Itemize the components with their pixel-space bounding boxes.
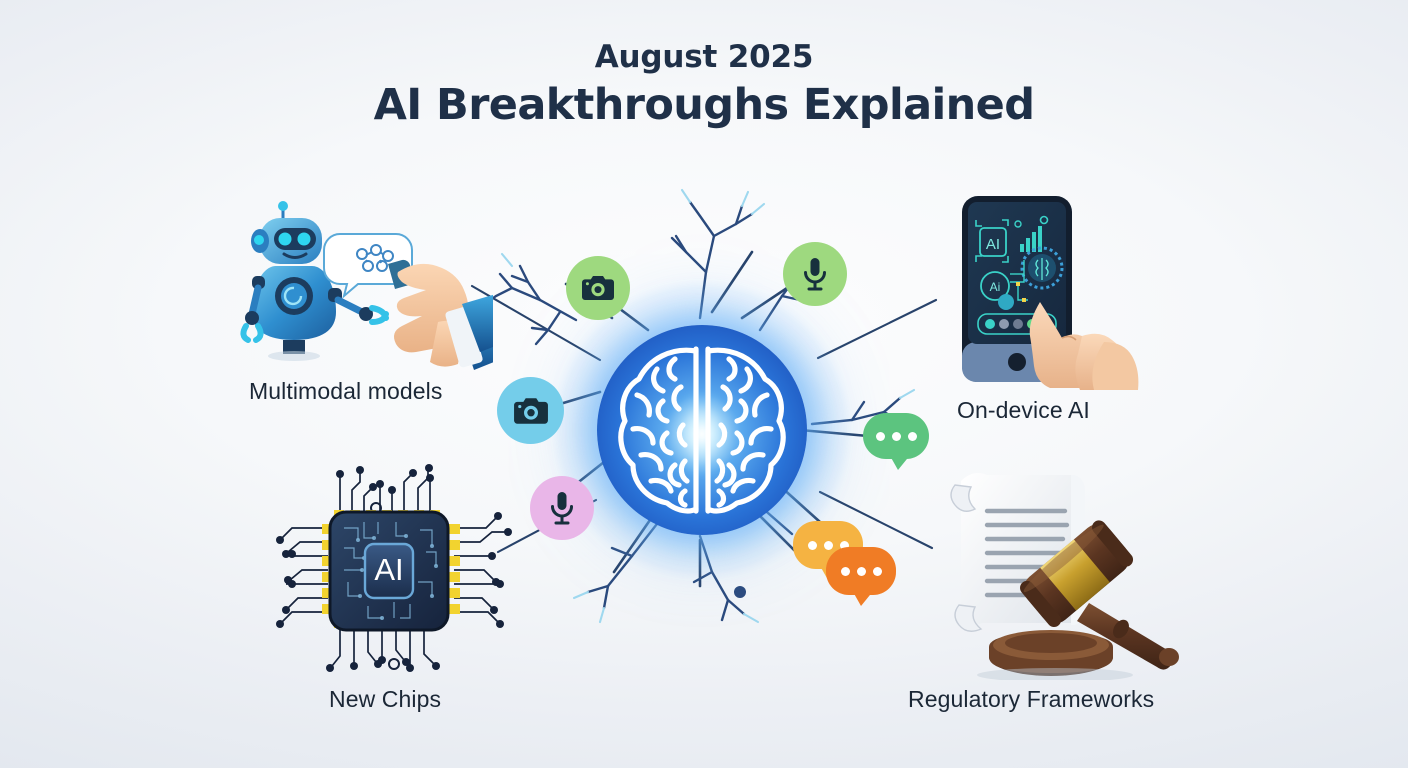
microphone-bubble-pink — [530, 476, 594, 540]
microphone-icon — [801, 256, 829, 292]
chat-dot — [876, 432, 885, 441]
svg-text:Ai: Ai — [990, 280, 1001, 294]
chat-dot — [824, 541, 833, 550]
phone-ai-label: AI — [986, 236, 1000, 253]
chat-bubble-orange — [826, 547, 896, 595]
node-label-ondevice: On-device AI — [957, 397, 1090, 424]
chat-dot — [808, 541, 817, 550]
microphone-icon — [548, 490, 576, 526]
chip-ai-label: AI — [374, 552, 403, 587]
chat-dot — [841, 567, 850, 576]
ai-brain — [597, 325, 807, 535]
camera-bubble-blue — [497, 377, 564, 444]
chat-bubble-green — [863, 413, 929, 459]
chat-dot — [857, 567, 866, 576]
chat-dot — [892, 432, 901, 441]
robot-handshake-icon — [238, 196, 493, 378]
node-label-multimodal: Multimodal models — [249, 378, 442, 405]
ai-chip-icon: AI — [268, 452, 513, 680]
camera-bubble-green — [566, 256, 630, 320]
gavel-scroll-icon — [925, 455, 1210, 680]
microphone-bubble-green — [783, 242, 847, 306]
chat-dot — [873, 567, 882, 576]
camera-icon — [581, 274, 615, 302]
node-label-chips: New Chips — [329, 686, 441, 713]
smartphone-touch-icon: AI Ai — [944, 190, 1169, 390]
chat-dot — [908, 432, 917, 441]
brain-icon — [597, 325, 807, 535]
camera-icon — [513, 396, 549, 426]
infographic-canvas: August 2025 AI Breakthroughs Explained — [0, 0, 1408, 768]
node-label-regulatory: Regulatory Frameworks — [908, 686, 1154, 713]
